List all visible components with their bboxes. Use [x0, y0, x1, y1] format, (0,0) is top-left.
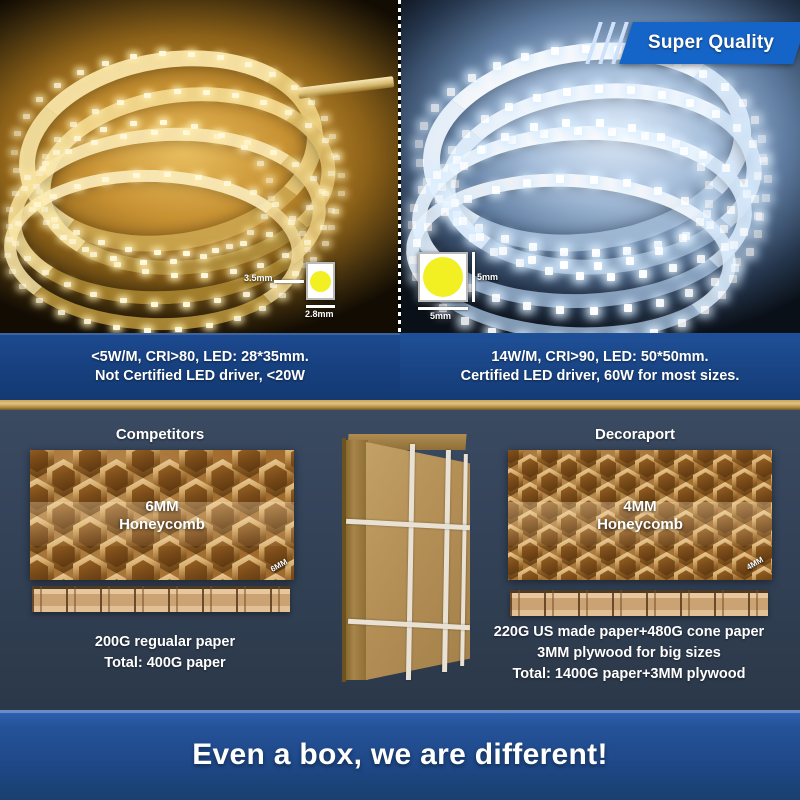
dimension-baseline — [306, 305, 335, 308]
led-chip — [751, 116, 759, 124]
led-phosphor-dot — [310, 271, 331, 292]
spec-bar: <5W/M, CRI>80, LED: 28*35mm. Not Certifi… — [0, 333, 800, 400]
decoraport-paper-line1: 220G US made paper+480G cone paper — [458, 622, 800, 643]
banner-headline: Even a box, we are different! — [192, 738, 608, 772]
packaging-detail-decoraport: 220G US made paper+480G cone paper 3MM p… — [458, 622, 800, 685]
cardboard-flutes — [32, 586, 290, 612]
honeycomb-size-competitors: 6MM — [30, 499, 294, 516]
dimension-side-line — [472, 252, 475, 302]
led-width-label-right: 5mm — [430, 311, 451, 321]
led-chip — [329, 134, 336, 139]
led-chip — [321, 116, 328, 121]
spec-left-line2: Not Certified LED driver, <20W — [95, 368, 305, 384]
led-chip — [431, 104, 439, 112]
decoraport-paper-total: Total: 1400G paper+3MM plywood — [458, 664, 800, 685]
photo-row: Super Quality 3.5mm 2.8mm 5mm 5mm — [0, 0, 800, 333]
led-chip — [328, 208, 335, 213]
led-chip — [54, 83, 61, 88]
led-strip-tail — [298, 76, 395, 99]
ribbon-label: Super Quality — [648, 32, 774, 54]
led-chip — [420, 122, 428, 130]
led-chip — [77, 70, 84, 75]
competitor-paper-line1: 200G regualar paper — [0, 632, 330, 653]
product-comparison-infographic: Super Quality 3.5mm 2.8mm 5mm 5mm <5W — [0, 0, 800, 800]
led-chip — [14, 131, 21, 136]
carton-left-edge — [342, 438, 346, 682]
honeycomb-size-decoraport: 4MM — [508, 499, 772, 516]
led-chip — [11, 150, 18, 155]
bottom-banner: Even a box, we are different! — [0, 710, 800, 800]
carton-face — [366, 442, 470, 680]
spec-right-line1: 14W/M, CRI>90, LED: 50*50mm. — [491, 349, 708, 365]
led-chip — [756, 213, 764, 221]
led-size-callout-left: 3.5mm 2.8mm — [306, 262, 335, 300]
led-chip — [754, 212, 762, 220]
super-quality-ribbon: Super Quality — [588, 22, 800, 64]
ribbon-body: Super Quality — [619, 22, 800, 64]
led-chip — [328, 225, 335, 230]
carton-side — [344, 440, 368, 680]
honeycomb-panel-competitors: 6MM Honeycomb 6MM — [30, 450, 294, 580]
honeycomb-word-decoraport: Honeycomb — [508, 516, 772, 533]
honeycomb-panel-decoraport: 4MM Honeycomb 4MM — [508, 450, 772, 580]
packaging-comparison-section: Competitors Decoraport 6MM Honeycomb 6MM… — [0, 410, 800, 710]
honeycomb-label-competitors: 6MM Honeycomb — [30, 499, 294, 534]
led-chip — [764, 175, 772, 183]
led-chip-diagram-right — [418, 252, 468, 302]
led-chip — [415, 140, 423, 148]
dimension-baseline — [418, 307, 468, 310]
dimension-leader-line — [274, 280, 304, 283]
led-chip — [447, 88, 455, 96]
cardboard-edge-strip-decoraport — [510, 590, 768, 616]
led-chip — [322, 241, 329, 246]
packaging-detail-competitors: 200G regualar paper Total: 400G paper — [0, 632, 330, 674]
packed-carton-illustration — [336, 434, 478, 688]
honeycomb-label-decoraport: 4MM Honeycomb — [508, 499, 772, 534]
compare-title-competitors: Competitors — [0, 426, 320, 443]
spec-column-competitor: <5W/M, CRI>80, LED: 28*35mm. Not Certifi… — [0, 333, 400, 400]
led-chip — [758, 135, 766, 143]
cardboard-flutes — [510, 590, 768, 616]
led-chip-diagram-left — [306, 262, 335, 300]
led-height-label-right: 5mm — [477, 272, 498, 282]
led-chip — [332, 209, 339, 214]
led-chip — [23, 114, 30, 119]
photo-warm-led-strip — [0, 0, 400, 333]
compare-title-decoraport: Decoraport — [490, 426, 780, 443]
competitor-paper-total: Total: 400G paper — [0, 653, 330, 674]
led-chip — [762, 194, 770, 202]
led-height-label-left: 3.5mm — [244, 273, 273, 283]
photo-divider — [398, 0, 401, 333]
led-chip — [338, 173, 345, 178]
led-chip — [754, 230, 762, 238]
spec-column-decoraport: 14W/M, CRI>90, LED: 50*50mm. Certified L… — [400, 333, 800, 400]
spec-right-line2: Certified LED driver, 60W for most sizes… — [461, 368, 740, 384]
gold-divider — [0, 400, 800, 410]
led-chip — [338, 191, 345, 196]
decoraport-paper-line2: 3MM plywood for big sizes — [458, 643, 800, 664]
cardboard-edge-strip-competitors — [32, 586, 290, 612]
spec-left-line1: <5W/M, CRI>80, LED: 28*35mm. — [91, 349, 309, 365]
led-phosphor-dot — [423, 257, 463, 297]
honeycomb-word-competitors: Honeycomb — [30, 516, 294, 533]
led-width-label-left: 2.8mm — [305, 309, 334, 319]
led-chip — [746, 248, 754, 256]
led-chip — [310, 257, 317, 262]
led-chip — [36, 97, 43, 102]
led-chip — [461, 317, 469, 325]
led-size-callout-right: 5mm 5mm — [418, 252, 468, 302]
